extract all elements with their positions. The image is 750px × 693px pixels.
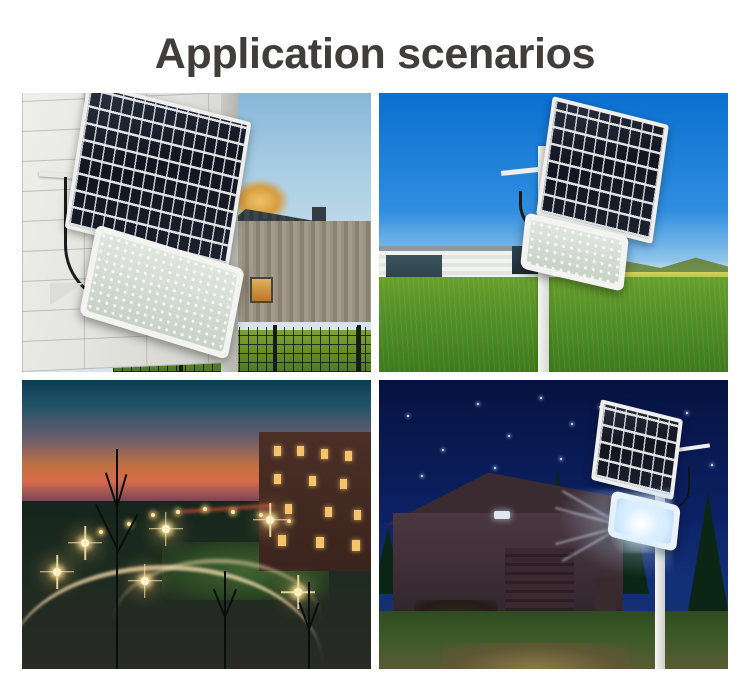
star <box>407 415 409 417</box>
star <box>421 475 423 477</box>
lit-window <box>316 537 324 548</box>
grass-texture <box>379 277 728 372</box>
wall-mounted-light <box>494 511 510 519</box>
star <box>686 412 688 414</box>
light-glow <box>602 496 679 554</box>
scenario-photo-bottom-right[interactable]: Solar flood light on a pole illuminating… <box>379 380 728 669</box>
street-light <box>287 519 291 523</box>
lit-window <box>354 510 361 520</box>
lit-window <box>278 535 286 546</box>
solar-cells <box>596 404 679 495</box>
lit-window <box>285 504 292 514</box>
solar-cells <box>541 101 665 239</box>
barn-window <box>250 277 273 303</box>
scenario-photo-top-right[interactable]: Pole mounted solar flood light in a gree… <box>379 93 728 372</box>
fence-post <box>357 325 361 372</box>
scenario-photo-top-left[interactable]: Solar panel and LED flood light mounted … <box>22 93 371 372</box>
street-light <box>162 525 170 533</box>
lit-window <box>274 446 281 456</box>
lit-window <box>340 479 347 489</box>
lit-window <box>321 449 328 459</box>
lit-window <box>352 540 360 551</box>
bare-tree <box>224 571 226 669</box>
lamp-bracket <box>50 283 84 305</box>
lit-window <box>274 474 281 484</box>
lit-window <box>325 507 332 517</box>
star <box>494 467 496 469</box>
street-light <box>176 510 180 514</box>
brick-building <box>259 432 371 571</box>
fence-post <box>273 325 277 372</box>
street-light <box>141 577 149 585</box>
star <box>560 458 562 460</box>
bare-tree <box>116 449 118 669</box>
application-scenarios-page: Application scenarios <box>0 0 750 693</box>
star <box>508 435 510 437</box>
lit-window <box>345 451 352 461</box>
page-title: Application scenarios <box>0 26 750 82</box>
star <box>477 403 479 405</box>
star <box>540 397 542 399</box>
lit-window <box>309 476 316 486</box>
lit-window <box>297 446 304 456</box>
pine-tree <box>686 493 728 623</box>
scenario-image-gallery: Solar panel and LED flood light mounted … <box>22 93 728 669</box>
scenario-photo-bottom-left[interactable]: Campus pathways and parking lot illumina… <box>22 380 371 669</box>
star <box>711 464 713 466</box>
solar-panel <box>591 399 683 500</box>
dirt-path <box>442 643 630 669</box>
star <box>571 423 573 425</box>
star <box>442 449 444 451</box>
